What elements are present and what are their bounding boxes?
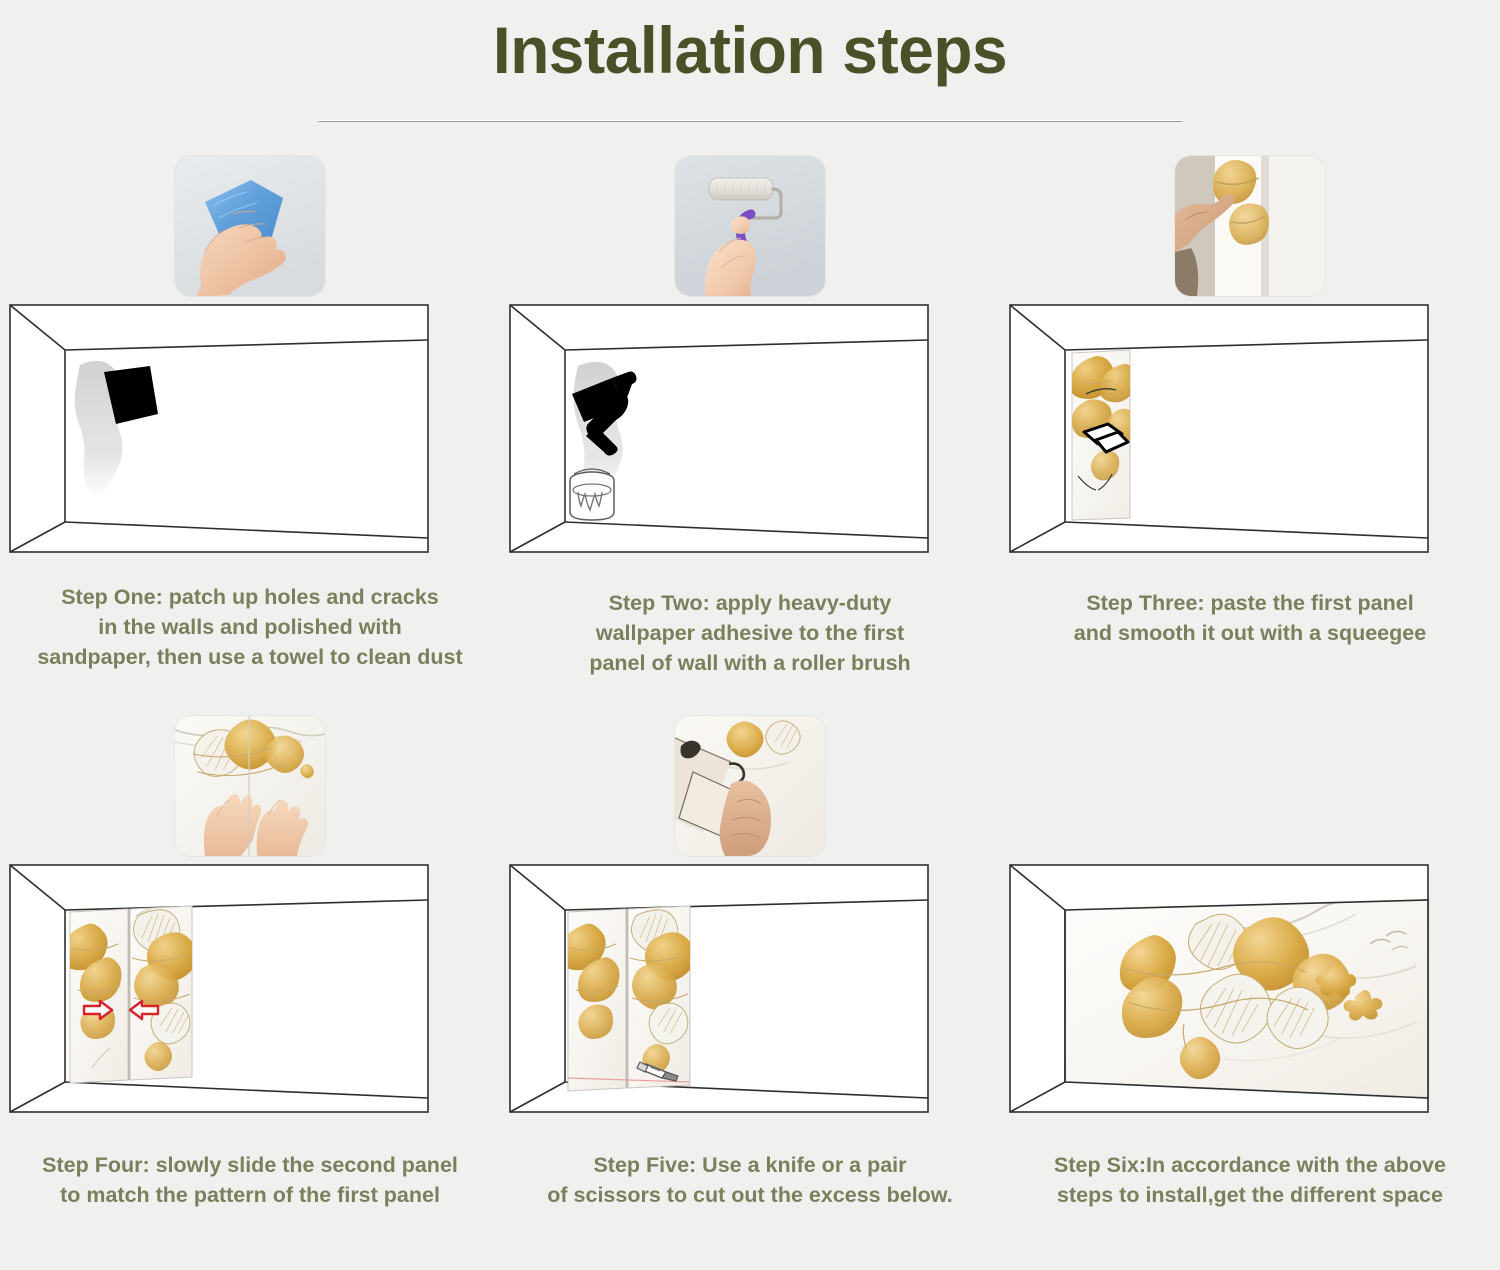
second-panel-icon bbox=[130, 905, 197, 1080]
step-five-figure bbox=[500, 710, 1000, 1130]
hand-wiping-with-blue-cloth-photo bbox=[175, 156, 325, 296]
step-card-step-three: Step Three: paste the first panel and sm… bbox=[1000, 150, 1500, 710]
step-card-step-six: Step Six:In accordance with the above st… bbox=[1000, 710, 1500, 1270]
second-panel-icon bbox=[628, 906, 695, 1088]
step-two-caption: Step Two: apply heavy-duty wallpaper adh… bbox=[500, 588, 1000, 678]
step-four-inset-photo bbox=[175, 716, 325, 856]
room-diagram-step-one bbox=[0, 260, 500, 560]
step-card-step-two: Step Two: apply heavy-duty wallpaper adh… bbox=[500, 150, 1000, 710]
step-two-inset-photo bbox=[675, 156, 825, 296]
room-diagram-step-three bbox=[1000, 260, 1500, 560]
step-five-caption: Step Five: Use a knife or a pair of scis… bbox=[500, 1150, 1000, 1210]
step-three-figure bbox=[1000, 150, 1500, 570]
hands-applying-panel-photo bbox=[1175, 156, 1325, 296]
first-panel-icon bbox=[62, 909, 128, 1083]
room-diagram-step-two bbox=[500, 260, 1000, 560]
step-five-inset-photo bbox=[675, 716, 825, 856]
room-diagram-step-six bbox=[1000, 820, 1500, 1120]
step-card-step-four: Step Four: slowly slide the second panel… bbox=[0, 710, 500, 1270]
step-card-step-five: Step Five: Use a knife or a pair of scis… bbox=[500, 710, 1000, 1270]
finished-mural-icon bbox=[1065, 894, 1428, 1098]
step-one-caption: Step One: patch up holes and cracks in t… bbox=[0, 582, 500, 672]
header-divider bbox=[318, 120, 1182, 122]
step-six-figure bbox=[1000, 710, 1500, 1130]
room-diagram-step-five bbox=[500, 820, 1000, 1120]
installation-steps-page: Installation steps bbox=[0, 0, 1500, 1263]
paint-roller-on-wall-photo bbox=[675, 156, 825, 296]
page-title: Installation steps bbox=[23, 14, 1478, 88]
step-one-figure bbox=[0, 150, 500, 570]
page-header: Installation steps bbox=[0, 0, 1500, 122]
step-card-step-one: Step One: patch up holes and cracks in t… bbox=[0, 150, 500, 710]
step-four-figure bbox=[0, 710, 500, 1130]
step-three-caption: Step Three: paste the first panel and sm… bbox=[1000, 588, 1500, 648]
paint-bucket-icon bbox=[570, 469, 614, 520]
step-two-figure bbox=[500, 150, 1000, 570]
steps-grid: Step One: patch up holes and cracks in t… bbox=[0, 150, 1500, 1270]
first-panel-icon bbox=[560, 909, 626, 1091]
step-six-caption: Step Six:In accordance with the above st… bbox=[1000, 1150, 1500, 1210]
room-diagram-step-four bbox=[0, 820, 500, 1120]
two-hands-aligning-panels-photo bbox=[175, 716, 325, 856]
step-four-caption: Step Four: slowly slide the second panel… bbox=[0, 1150, 500, 1210]
step-three-inset-photo bbox=[1175, 156, 1325, 296]
step-one-inset-photo bbox=[175, 156, 325, 296]
hand-cutting-with-knife-photo bbox=[675, 716, 825, 856]
